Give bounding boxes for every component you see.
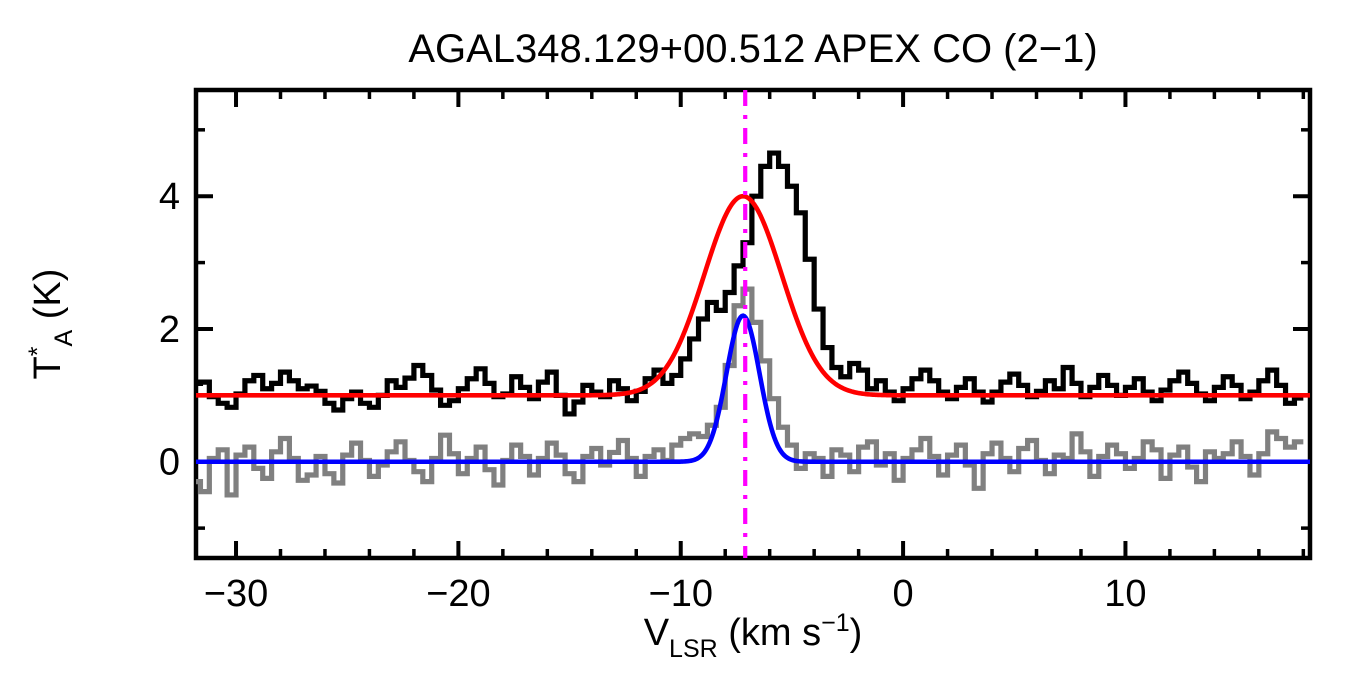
- svg-text:T*A (K): T*A (K): [24, 269, 78, 380]
- y-axis-label-main: T: [27, 356, 69, 379]
- x-axis-tick-labels: −30−20−10010: [204, 573, 1147, 615]
- x-axis-label-unit-pre: (km s: [718, 612, 821, 654]
- data-series-layer: [196, 153, 1310, 495]
- spectrum-plot-canvas: AGAL348.129+00.512 APEX CO (2−1) −30−20−…: [0, 0, 1350, 675]
- x-axis-label: VLSR (km s−1): [644, 609, 863, 663]
- x-tick-label: −20: [426, 573, 490, 615]
- y-tick-label: 2: [159, 309, 180, 351]
- y-axis-label-sub: A: [50, 329, 78, 346]
- x-axis-label-unit-sup: −1: [821, 609, 850, 637]
- page-title: AGAL348.129+00.512 APEX CO (2−1): [408, 27, 1097, 71]
- svg-text:VLSR (km s−1): VLSR (km s−1): [644, 609, 863, 663]
- y-axis-label-unit: (K): [27, 269, 69, 330]
- x-axis-label-main: V: [644, 612, 670, 654]
- plot-title-group: AGAL348.129+00.512 APEX CO (2−1): [408, 27, 1097, 71]
- x-axis-label-sub: LSR: [669, 635, 718, 663]
- spectrum-primary-trace: [196, 153, 1303, 414]
- x-tick-label: 10: [1104, 573, 1146, 615]
- x-axis-label-unit-post: ): [850, 612, 863, 654]
- x-tick-label: −30: [204, 573, 268, 615]
- y-axis-label: T*A (K): [24, 269, 78, 380]
- spectrum-figure: AGAL348.129+00.512 APEX CO (2−1) −30−20−…: [0, 0, 1350, 675]
- y-tick-label: 0: [159, 442, 180, 484]
- y-axis-label-sup: *: [24, 346, 52, 356]
- x-tick-label: 0: [893, 573, 914, 615]
- y-axis-tick-labels: 024: [159, 176, 180, 484]
- y-tick-label: 4: [159, 176, 180, 218]
- x-tick-label: −10: [649, 573, 713, 615]
